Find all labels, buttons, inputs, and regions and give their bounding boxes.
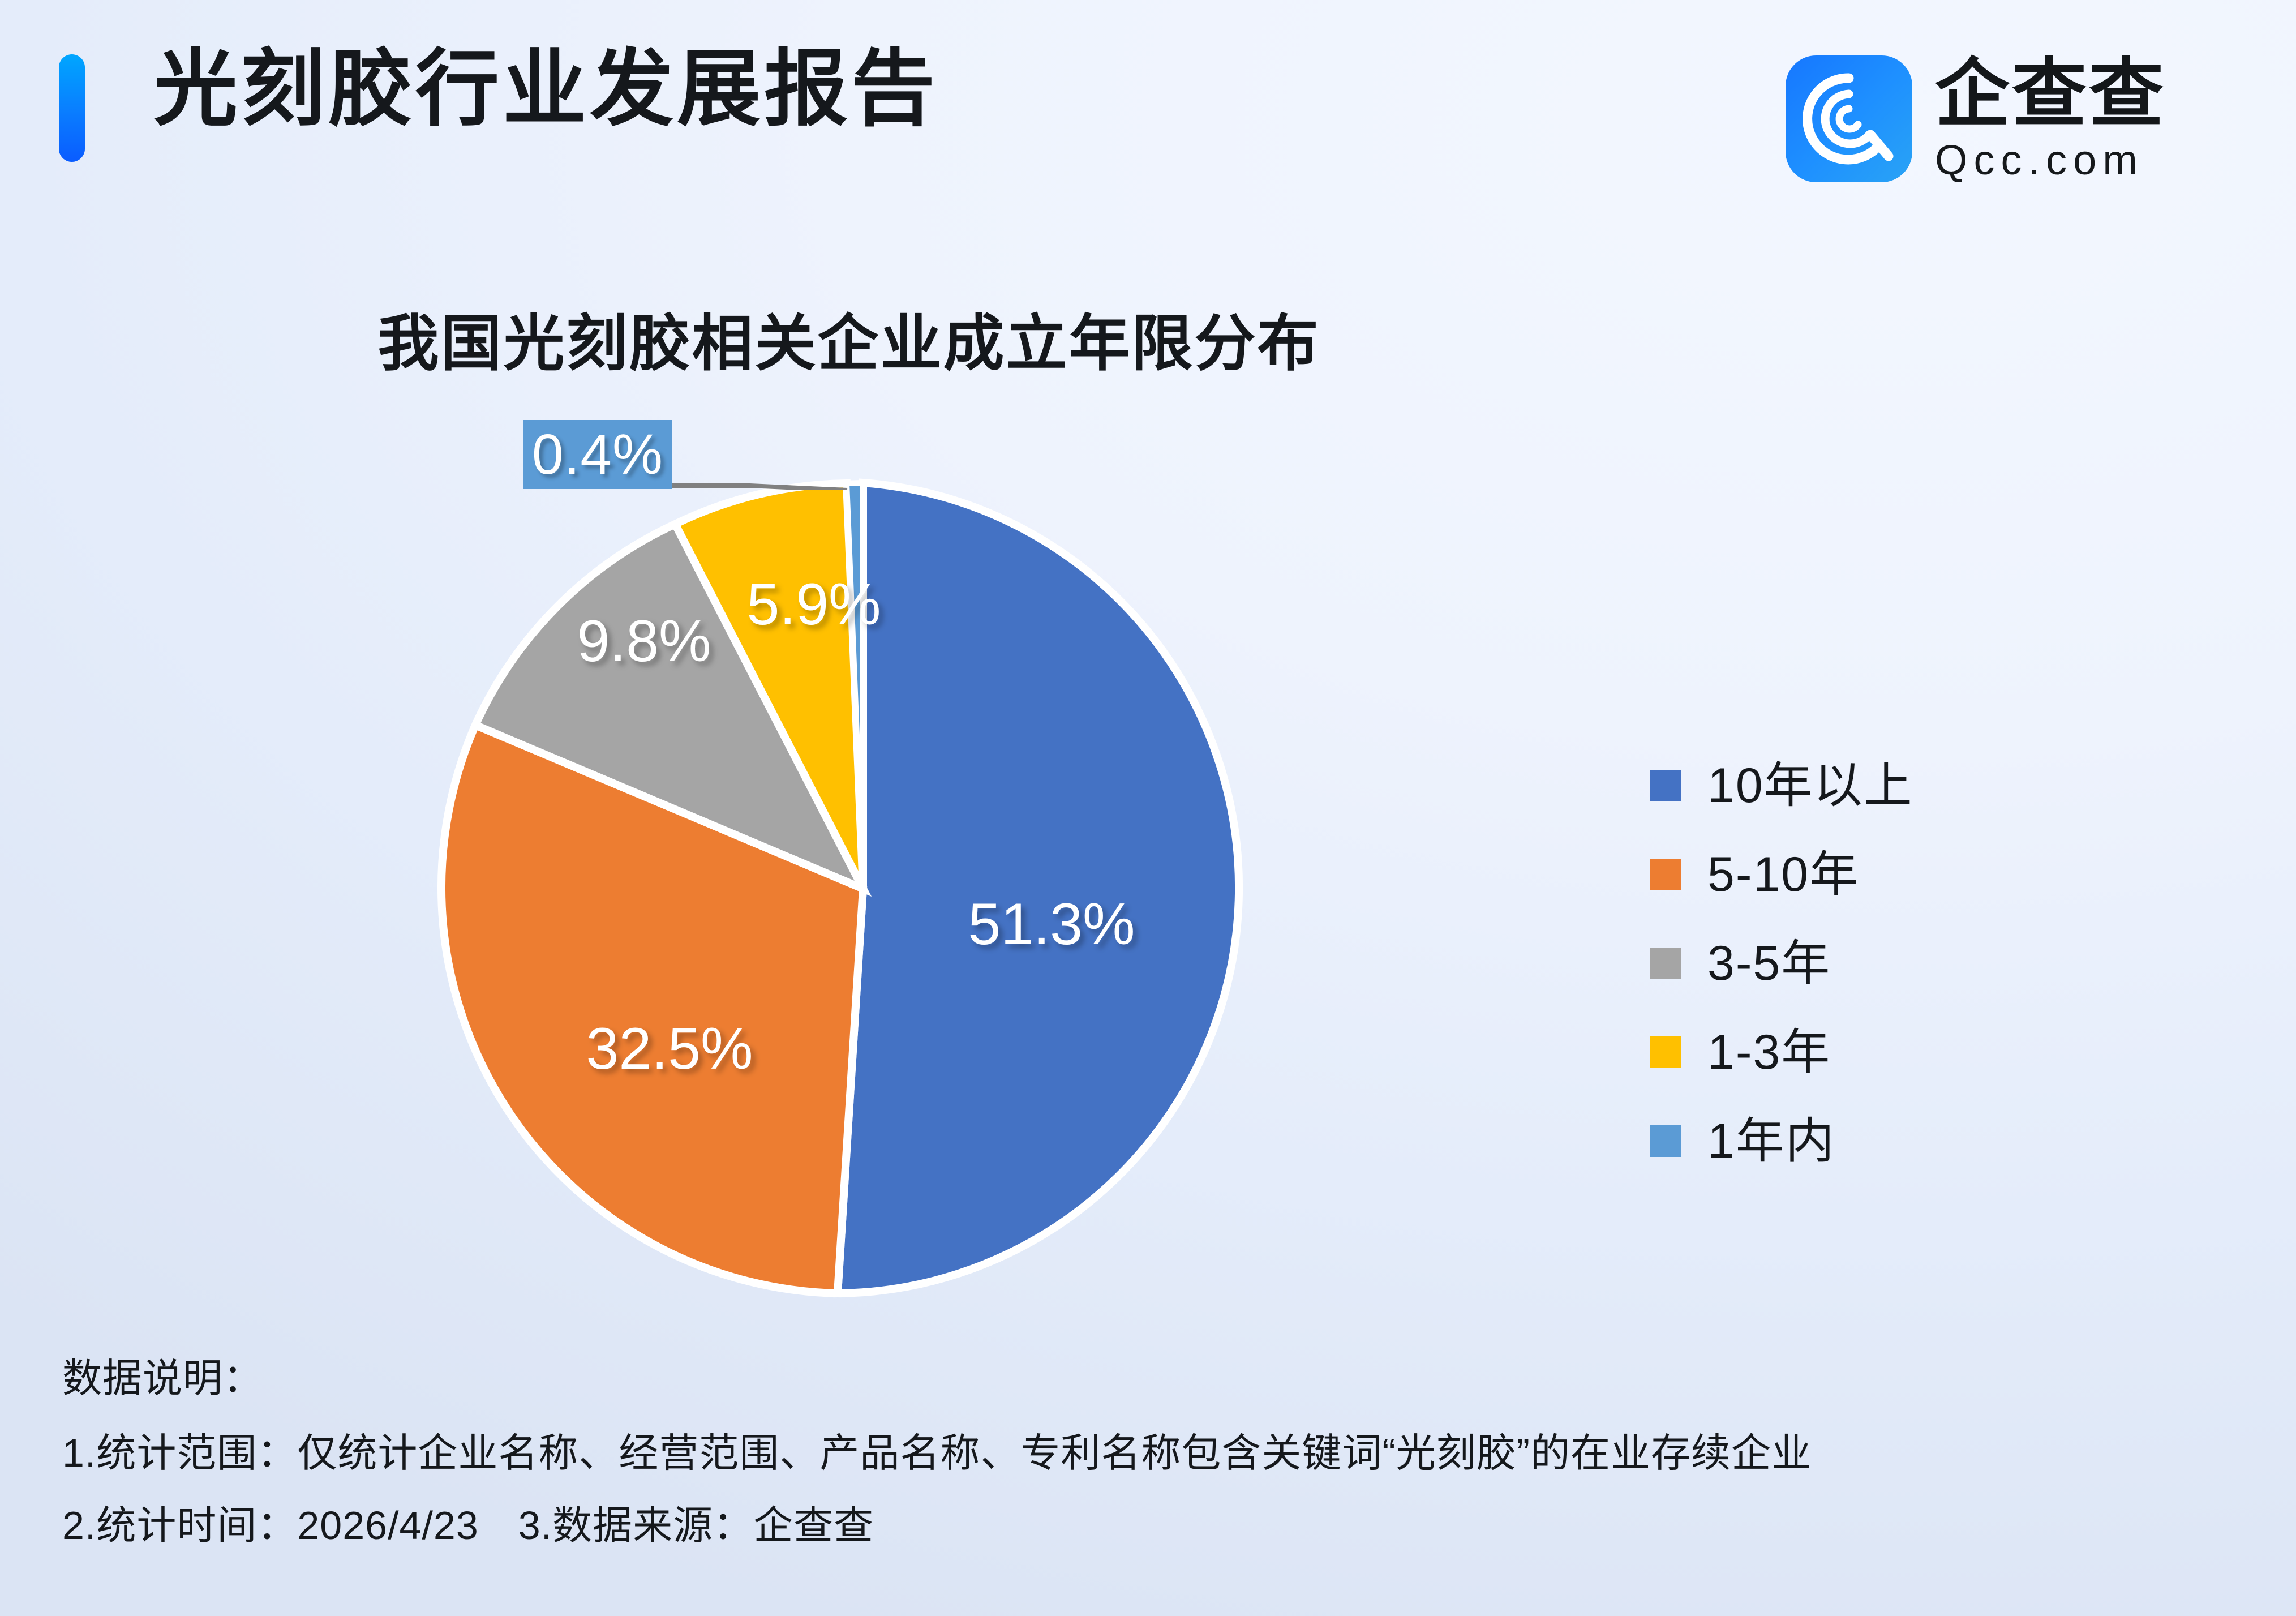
legend-item-label: 5-10年 — [1707, 850, 1859, 899]
legend-swatch-icon — [1650, 948, 1681, 979]
legend-swatch-icon — [1650, 770, 1681, 801]
legend-swatch-icon — [1650, 1125, 1681, 1157]
legend-item-10-years-plus[interactable]: 10年以上 — [1650, 761, 1913, 810]
brand-name: 企查查 — [1935, 57, 2166, 131]
legend-item-3-5-years[interactable]: 3-5年 — [1650, 939, 1913, 988]
notes-time-source-line: 2.统计时间：2026/4/233.数据来源：企查查 — [62, 1506, 2213, 1545]
brand-text: 企查查 Qcc.com — [1935, 57, 2166, 181]
legend-item-5-10-years[interactable]: 5-10年 — [1650, 850, 1913, 899]
pie-slice-10-years-plus[interactable] — [838, 483, 1239, 1293]
chart-title: 我国光刻胶相关企业成立年限分布 — [0, 294, 1698, 383]
callout-box-within-1-year[interactable]: 0.4% — [523, 420, 672, 489]
chart-legend: 10年以上 5-10年 3-5年 1-3年 1年内 — [1650, 761, 1913, 1165]
legend-swatch-icon — [1650, 859, 1681, 890]
notes-heading: 数据说明： — [62, 1358, 2213, 1398]
notes-scope-line: 1.统计范围：仅统计企业名称、经营范围、产品名称、专利名称包含关键词“光刻胶”的… — [62, 1433, 2213, 1473]
pie-label-10-years-plus: 51.3% — [968, 891, 1135, 957]
data-notes: 数据说明： 1.统计范围：仅统计企业名称、经营范围、产品名称、专利名称包含关键词… — [62, 1358, 2213, 1578]
pie-label-1-3-years: 5.9% — [746, 572, 881, 637]
pie-label-3-5-years: 9.8% — [577, 608, 711, 674]
legend-item-label: 1-3年 — [1707, 1028, 1831, 1077]
legend-item-label: 10年以上 — [1707, 761, 1913, 810]
page-title: 光刻胶行业发展报告 — [154, 48, 938, 131]
brand-logo[interactable]: 企查查 Qcc.com — [1786, 55, 2166, 182]
brand-domain: Qcc.com — [1935, 139, 2166, 181]
notes-statistic-time: 2.统计时间：2026/4/23 — [62, 1503, 479, 1548]
notes-data-source: 3.数据来源：企查查 — [518, 1503, 874, 1548]
legend-item-label: 1年内 — [1707, 1117, 1835, 1165]
legend-item-within-1-year[interactable]: 1年内 — [1650, 1117, 1913, 1165]
qcc-spiral-q-icon — [1786, 55, 1912, 182]
title-accent-bar — [59, 54, 85, 162]
legend-item-label: 3-5年 — [1707, 939, 1831, 988]
pie-label-5-10-years: 32.5% — [586, 1016, 753, 1082]
page-header: 光刻胶行业发展报告 企查查 Qcc.com — [0, 0, 2296, 187]
legend-item-1-3-years[interactable]: 1-3年 — [1650, 1028, 1913, 1077]
callout-label: 0.4% — [532, 422, 663, 487]
legend-swatch-icon — [1650, 1036, 1681, 1068]
pie-chart: 51.3% 32.5% 9.8% 5.9% — [449, 483, 1277, 1294]
report-page: 光刻胶行业发展报告 企查查 Qcc.com 我国光刻胶相关企业成立年限分布 — [0, 0, 2296, 1616]
